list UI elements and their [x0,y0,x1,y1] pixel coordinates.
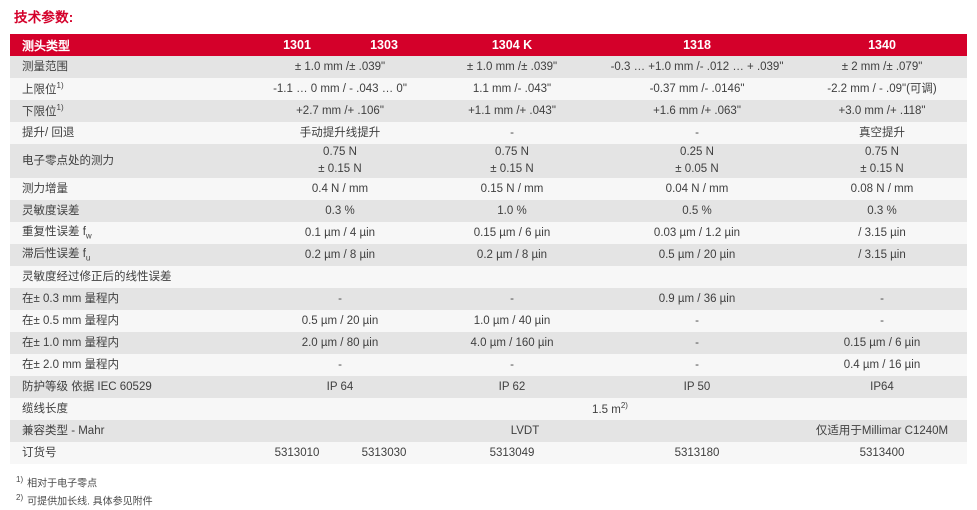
row-label: 测量范围 [10,56,253,78]
table-cell [253,266,427,288]
table-cell: -2.2 mm / - .09"(可调) [797,78,967,100]
table-cell: +3.0 mm /+ .118" [797,100,967,122]
table-cell: 5313010 [253,442,341,464]
cell-line: 0.75 N [797,144,967,161]
row-label-subscript: u [86,253,90,262]
table-cell: ± 1.0 mm /± .039" [253,56,427,78]
table-cell: / 3.15 µin [797,244,967,266]
table-cell: 0.2 µm / 8 µin [427,244,597,266]
cell-line: 0.25 N [597,144,797,161]
table-cell: - [427,122,597,144]
page-title: 技术参数: [10,0,967,34]
table-cell: +1.6 mm /+ .063" [597,100,797,122]
table-cell: 0.1 µm / 4 µin [253,222,427,244]
table-cell: 0.3 % [797,200,967,222]
table-row: 防护等级 依据 IEC 60529IP 64IP 62IP 50IP64 [10,376,967,398]
cell-superscript: 2) [621,401,628,410]
footnote-text: 可提供加长线. 具体参见附件 [27,496,153,507]
table-cell: - [253,288,427,310]
table-cell: 4.0 µm / 160 µin [427,332,597,354]
table-cell: 5313030 [341,442,427,464]
row-label: 测力增量 [10,178,253,200]
table-cell: 0.9 µm / 36 µin [597,288,797,310]
table-cell: IP 50 [597,376,797,398]
table-cell: 0.75 N± 0.15 N [427,144,597,178]
table-row: 兼容类型 - MahrLVDT仅适用于Millimar C1240M [10,420,967,442]
cell-line: ± 0.15 N [797,161,967,178]
table-cell: 5313180 [597,442,797,464]
table-cell: - [597,354,797,376]
row-label: 灵敏度经过修正后的线性误差 [10,266,253,288]
row-label: 在± 2.0 mm 量程内 [10,354,253,376]
table-row: 提升/ 回退手动提升线提升--真空提升 [10,122,967,144]
row-label-superscript: 1) [57,81,64,90]
table-row: 在± 0.5 mm 量程内0.5 µm / 20 µin1.0 µm / 40 … [10,310,967,332]
row-label: 电子零点处的测力 [10,144,253,178]
cell-line: 0.75 N [427,144,597,161]
table-cell [597,266,797,288]
table-cell: 1.0 % [427,200,597,222]
table-cell [427,266,597,288]
table-cell: 0.5 µm / 20 µin [253,310,427,332]
row-label: 防护等级 依据 IEC 60529 [10,376,253,398]
column-header-1340: 1340 [797,34,967,56]
table-cell: 2.0 µm / 80 µin [253,332,427,354]
cell-line: ± 0.15 N [253,161,427,178]
table-cell: 0.03 µm / 1.2 µin [597,222,797,244]
footnote-item: 1)相对于电子零点 [16,474,967,492]
table-row: 重复性误差 fw0.1 µm / 4 µin0.15 µm / 6 µin0.0… [10,222,967,244]
row-label: 滞后性误差 fu [10,244,253,266]
row-label: 提升/ 回退 [10,122,253,144]
table-row: 测力增量0.4 N / mm0.15 N / mm0.04 N / mm0.08… [10,178,967,200]
table-cell: IP64 [797,376,967,398]
footnote-marker: 2) [16,493,23,502]
row-label: 上限位1) [10,78,253,100]
table-cell: - [427,288,597,310]
table-row: 缆线长度1.5 m2) [10,398,967,420]
table-cell: 0.15 µm / 6 µin [427,222,597,244]
row-label: 灵敏度误差 [10,200,253,222]
row-label: 兼容类型 - Mahr [10,420,253,442]
table-cell: - [427,354,597,376]
row-label: 下限位1) [10,100,253,122]
cell-line: 0.75 N [253,144,427,161]
table-cell: 0.75 N± 0.15 N [253,144,427,178]
table-cell: 0.75 N± 0.15 N [797,144,967,178]
table-cell: - [253,354,427,376]
row-label: 订货号 [10,442,253,464]
table-cell: 0.15 N / mm [427,178,597,200]
table-cell: 0.4 N / mm [253,178,427,200]
table-cell: - [597,310,797,332]
table-cell: 0.15 µm / 6 µin [797,332,967,354]
column-header-1303: 1303 [341,34,427,56]
technical-specs-table: 测头类型 1301 1303 1304 K 1318 1340 测量范围± 1.… [10,34,967,464]
table-cell: 0.08 N / mm [797,178,967,200]
table-cell: 1.1 mm /- .043" [427,78,597,100]
table-cell: 0.25 N± 0.05 N [597,144,797,178]
table-cell: 0.2 µm / 8 µin [253,244,427,266]
table-cell: 0.4 µm / 16 µin [797,354,967,376]
column-header-label: 测头类型 [10,34,253,56]
table-cell: 5313400 [797,442,967,464]
table-cell: 手动提升线提升 [253,122,427,144]
cell-line: ± 0.15 N [427,161,597,178]
table-row: 电子零点处的测力0.75 N± 0.15 N0.75 N± 0.15 N0.25… [10,144,967,178]
table-header: 测头类型 1301 1303 1304 K 1318 1340 [10,34,967,56]
spec-sheet-page: 技术参数: 测头类型 1301 1303 1304 K 1318 1340 测量… [0,0,977,500]
column-header-1304k: 1304 K [427,34,597,56]
table-cell: +2.7 mm /+ .106" [253,100,427,122]
table-cell: 0.5 % [597,200,797,222]
table-header-row: 测头类型 1301 1303 1304 K 1318 1340 [10,34,967,56]
table-cell: -1.1 … 0 mm / - .043 … 0" [253,78,427,100]
table-cell: IP 62 [427,376,597,398]
row-label-subscript: w [86,231,92,240]
footnote-item: 2)可提供加长线. 具体参见附件 [16,492,967,510]
table-cell: LVDT [253,420,797,442]
row-label: 在± 0.5 mm 量程内 [10,310,253,332]
table-row: 在± 1.0 mm 量程内2.0 µm / 80 µin4.0 µm / 160… [10,332,967,354]
footnotes: 1)相对于电子零点 2)可提供加长线. 具体参见附件 [10,464,967,510]
table-cell: +1.1 mm /+ .043" [427,100,597,122]
table-row: 灵敏度经过修正后的线性误差 [10,266,967,288]
table-cell: IP 64 [253,376,427,398]
table-row: 下限位1)+2.7 mm /+ .106"+1.1 mm /+ .043"+1.… [10,100,967,122]
column-header-1301: 1301 [253,34,341,56]
table-cell: 0.3 % [253,200,427,222]
table-row: 订货号53130105313030531304953131805313400 [10,442,967,464]
row-label: 在± 1.0 mm 量程内 [10,332,253,354]
footnote-text: 相对于电子零点 [27,478,97,489]
footnote-marker: 1) [16,475,23,484]
row-label-superscript: 1) [57,103,64,112]
table-row: 上限位1)-1.1 … 0 mm / - .043 … 0"1.1 mm /- … [10,78,967,100]
column-header-1318: 1318 [597,34,797,56]
table-cell: 仅适用于Millimar C1240M [797,420,967,442]
table-cell: - [797,288,967,310]
row-label: 在± 0.3 mm 量程内 [10,288,253,310]
table-cell: - [597,122,797,144]
table-cell: ± 2 mm /± .079" [797,56,967,78]
table-cell: - [797,310,967,332]
cell-line: ± 0.05 N [597,161,797,178]
table-cell: 0.5 µm / 20 µin [597,244,797,266]
table-row: 滞后性误差 fu0.2 µm / 8 µin0.2 µm / 8 µin0.5 … [10,244,967,266]
table-cell: 真空提升 [797,122,967,144]
table-cell: ± 1.0 mm /± .039" [427,56,597,78]
row-label: 缆线长度 [10,398,253,420]
table-row: 在± 2.0 mm 量程内---0.4 µm / 16 µin [10,354,967,376]
table-cell: -0.3 … +1.0 mm /- .012 … + .039" [597,56,797,78]
table-cell: 1.5 m2) [253,398,967,420]
table-row: 在± 0.3 mm 量程内--0.9 µm / 36 µin- [10,288,967,310]
table-cell: 1.0 µm / 40 µin [427,310,597,332]
table-row: 灵敏度误差0.3 %1.0 %0.5 %0.3 % [10,200,967,222]
table-cell: -0.37 mm /- .0146" [597,78,797,100]
table-cell: / 3.15 µin [797,222,967,244]
row-label: 重复性误差 fw [10,222,253,244]
table-cell: 0.04 N / mm [597,178,797,200]
table-cell: - [597,332,797,354]
table-body: 测量范围± 1.0 mm /± .039"± 1.0 mm /± .039"-0… [10,56,967,464]
table-row: 测量范围± 1.0 mm /± .039"± 1.0 mm /± .039"-0… [10,56,967,78]
table-cell: 5313049 [427,442,597,464]
table-cell [797,266,967,288]
